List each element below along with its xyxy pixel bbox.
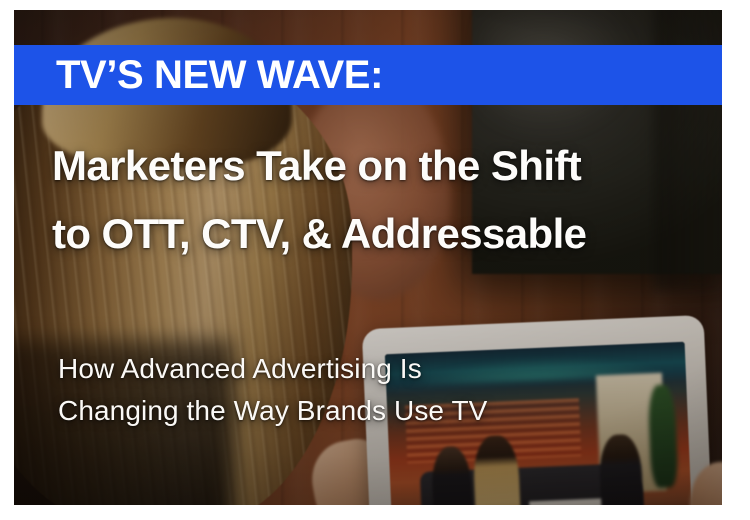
page-subtitle: How Advanced Advertising Is Changing the… [58,348,618,432]
headline-line-2: to OTT, CTV, & Addressable [52,200,672,268]
banner-title: TV’S NEW WAVE: [56,55,383,95]
cover-page: TV’S NEW WAVE: Marketers Take on the Shi… [0,0,750,520]
title-banner: TV’S NEW WAVE: [14,45,722,105]
subtitle-line-2: Changing the Way Brands Use TV [58,390,618,432]
page-title: Marketers Take on the Shift to OTT, CTV,… [52,132,672,268]
headline-line-1: Marketers Take on the Shift [52,132,672,200]
subtitle-line-1: How Advanced Advertising Is [58,348,618,390]
